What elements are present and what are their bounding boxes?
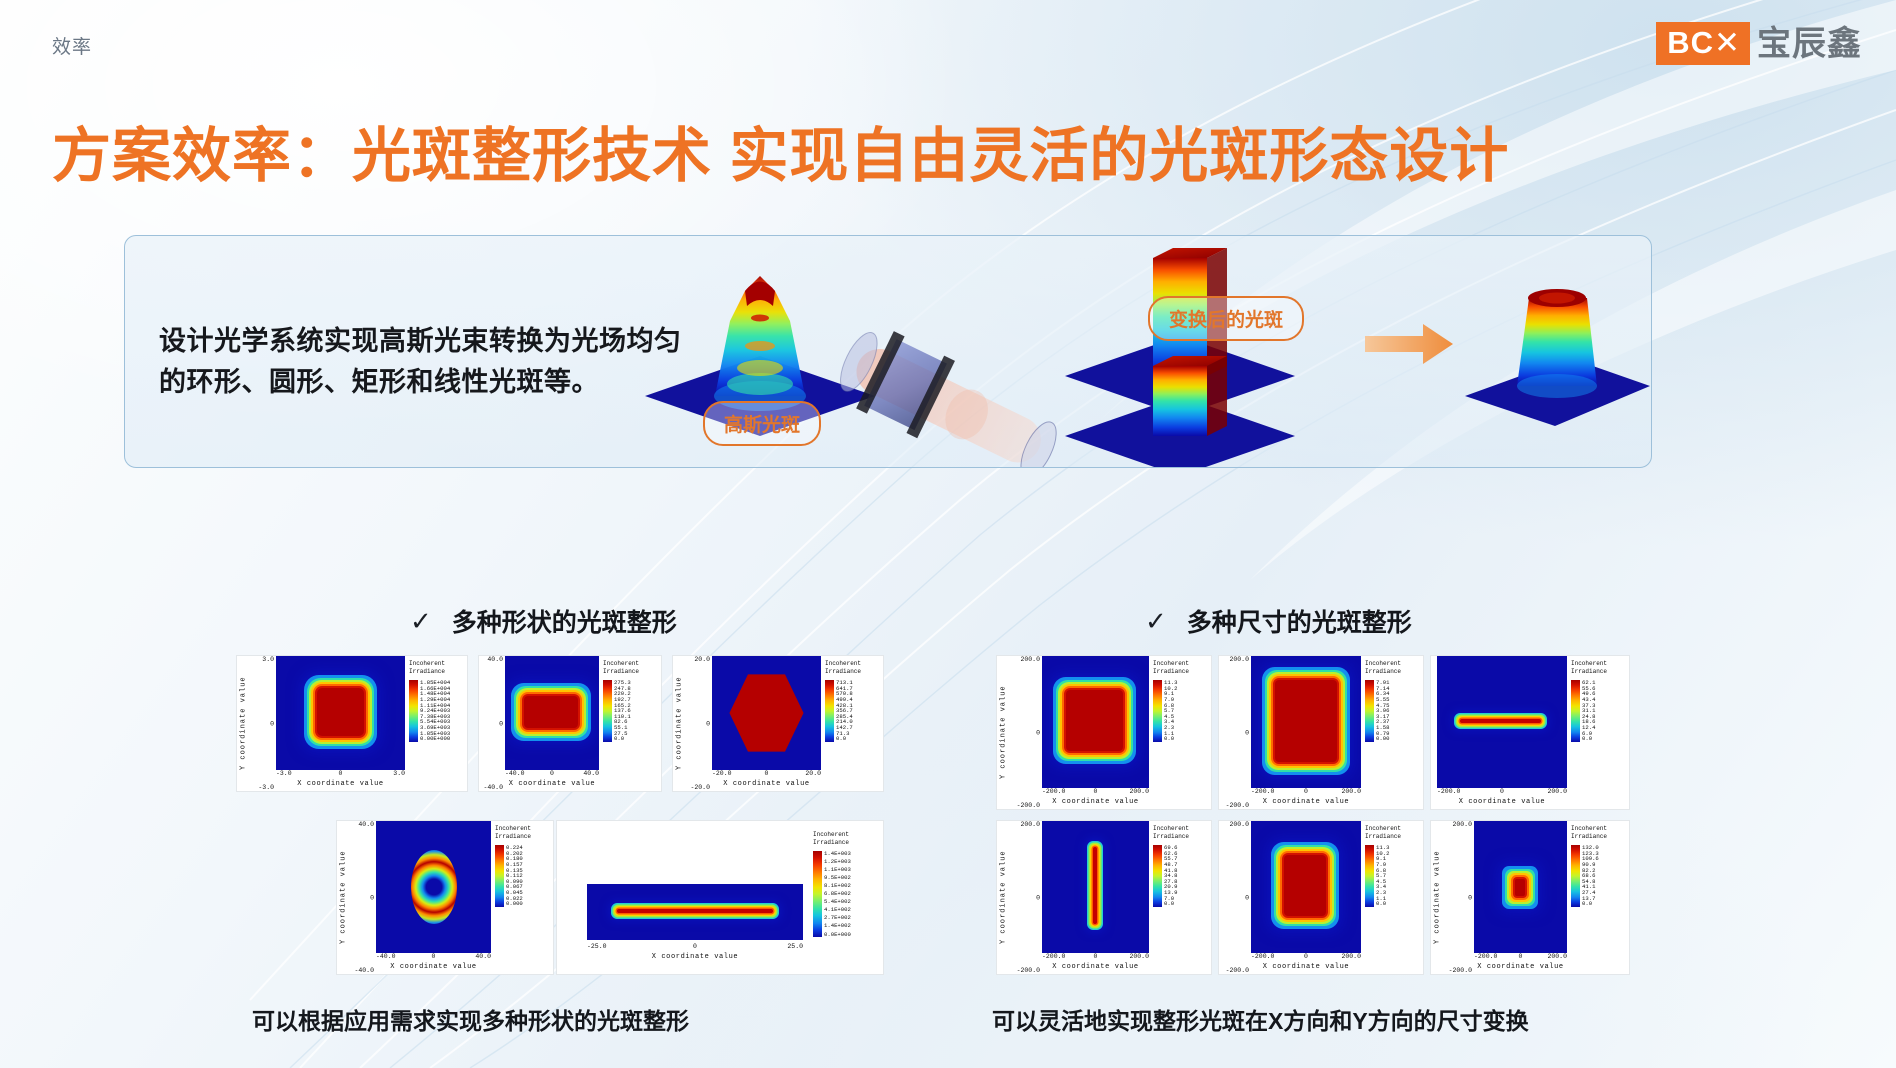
chart-card-shape-rectangle: 40.0 0 -40.0 -40.0 0 40.0 X coordinate v… bbox=[478, 655, 662, 792]
section-title-shapes: 多种形状的光斑整形 bbox=[452, 603, 677, 639]
x-axis-ticks: -200.0 0 200.0 bbox=[1251, 788, 1361, 798]
heat-shape-square-small bbox=[1515, 879, 1525, 896]
colorbar-title: Incoherent Irradiance bbox=[825, 660, 881, 676]
section-title-sizes: 多种尺寸的光斑整形 bbox=[1187, 603, 1412, 639]
heatmap-canvas bbox=[1474, 821, 1567, 953]
colorbar: Incoherent Irradiance 713.1641.7 570.849… bbox=[821, 656, 883, 791]
x-axis-ticks: -25.0 0 25.0 bbox=[587, 943, 803, 953]
colorbar-labels: 0.2240.202 0.1800.157 0.1350.112 0.0900.… bbox=[504, 845, 523, 907]
heat-shape-thin-line bbox=[617, 909, 773, 913]
colorbar-title: Incoherent Irradiance bbox=[409, 660, 465, 676]
colorbar: Incoherent Irradiance 69.662.6 55.748.7 … bbox=[1149, 821, 1211, 974]
tophat-surface-plot bbox=[1465, 289, 1650, 426]
x-axis-label: X coordinate value bbox=[712, 780, 821, 791]
x-axis-label: X coordinate value bbox=[1251, 798, 1361, 809]
colorbar-gradient bbox=[495, 845, 504, 907]
chart-card-size-hline: -200.0 0 200.0 X coordinate value Incohe… bbox=[1430, 655, 1630, 810]
colorbar-labels: 1.85E+0041.66E+004 1.48E+0041.29E+004 1.… bbox=[418, 680, 450, 742]
colorbar-title: Incoherent Irradiance bbox=[603, 660, 659, 676]
y-axis-ticks: 200.0 0 -200.0 bbox=[1219, 656, 1251, 809]
colorbar: Incoherent Irradiance 1.4E+0031.2E+003 1… bbox=[809, 827, 883, 974]
colorbar: Incoherent Irradiance 0.2240.202 0.1800.… bbox=[491, 821, 553, 974]
heatmap-canvas bbox=[1251, 656, 1361, 788]
colorbar-labels: 713.1641.7 570.8499.4 428.1356.7 285.421… bbox=[834, 680, 853, 742]
chart-card-size-square-mid: 200.0 0 -200.0 -200.0 0 200.0 X coordina… bbox=[1218, 820, 1424, 975]
heat-shape-vline bbox=[1093, 847, 1097, 924]
check-icon: ✓ bbox=[1145, 606, 1167, 637]
heat-shape-rect-wide bbox=[1066, 690, 1124, 751]
y-axis-ticks: 3.0 0 -3.0 bbox=[250, 656, 276, 791]
x-axis-ticks: -20.0 0 20.0 bbox=[712, 770, 821, 780]
y-axis-ticks: 40.0 0 -40.0 bbox=[479, 656, 505, 791]
x-axis-label: X coordinate value bbox=[376, 963, 491, 974]
page-kicker: 效率 bbox=[52, 32, 92, 59]
x-axis-ticks: -40.0 0 40.0 bbox=[376, 953, 491, 963]
colorbar-gradient bbox=[1153, 680, 1162, 742]
y-axis-ticks: 40.0 0 -40.0 bbox=[350, 821, 376, 974]
colorbar-labels: 11.310.2 9.17.9 6.85.7 4.53.4 2.31.1 0.0 bbox=[1374, 845, 1389, 907]
heat-shape-square-big bbox=[1275, 680, 1337, 762]
y-axis-ticks: 200.0 0 -200.0 bbox=[1010, 821, 1042, 974]
check-icon: ✓ bbox=[410, 606, 432, 637]
heat-shape-hline bbox=[1460, 719, 1541, 723]
colorbar-labels: 132.0123.3 109.690.9 82.268.6 54.841.1 2… bbox=[1580, 845, 1599, 907]
colorbar-title: Incoherent Irradiance bbox=[1153, 660, 1209, 676]
colorbar-gradient bbox=[409, 680, 418, 742]
colorbar-title: Incoherent Irradiance bbox=[1365, 660, 1421, 676]
y-axis-label: Y coordinate value bbox=[673, 656, 686, 791]
colorbar-title: Incoherent Irradiance bbox=[495, 825, 551, 841]
heatmap-canvas bbox=[276, 656, 405, 770]
heatmap-canvas bbox=[505, 656, 599, 770]
colorbar-title: Incoherent Irradiance bbox=[813, 831, 881, 847]
x-axis-ticks: -40.0 0 40.0 bbox=[505, 770, 599, 780]
chart-card-size-rect-wide: Y coordinate value 200.0 0 -200.0 -200.0… bbox=[996, 655, 1212, 810]
badge-gaussian-spot: 高斯光斑 bbox=[703, 401, 821, 446]
y-axis-ticks: 20.0 0 -20.0 bbox=[686, 656, 712, 791]
x-axis-label: X coordinate value bbox=[505, 780, 599, 791]
colorbar: Incoherent Irradiance 11.310.2 9.17.9 6.… bbox=[1149, 656, 1211, 809]
colorbar-gradient bbox=[1571, 845, 1580, 907]
colorbar-gradient bbox=[1365, 845, 1374, 907]
heatmap-canvas bbox=[712, 656, 821, 770]
optical-lens-assembly bbox=[828, 318, 1069, 468]
chart-card-shape-ring: Y coordinate value 40.0 0 -40.0 -40.0 0 … bbox=[336, 820, 554, 975]
chart-card-shape-thin-line: -25.0 0 25.0 X coordinate value Incohere… bbox=[556, 820, 884, 975]
colorbar-title: Incoherent Irradiance bbox=[1571, 660, 1627, 676]
y-axis-label: Y coordinate value bbox=[237, 656, 250, 791]
chart-card-size-square-small: Y coordinate value 200.0 0 -200.0 -200.0… bbox=[1430, 820, 1630, 975]
colorbar-gradient bbox=[1365, 680, 1374, 742]
badge-shaped-spot: 变换后的光斑 bbox=[1148, 296, 1304, 341]
hero-panel: 设计光学系统实现高斯光束转换为光场均匀的环形、圆形、矩形和线性光斑等。 bbox=[124, 235, 1652, 468]
colorbar-gradient bbox=[813, 851, 822, 937]
section-header-sizes: ✓ 多种尺寸的光斑整形 bbox=[1145, 603, 1412, 639]
colorbar: Incoherent Irradiance 132.0123.3 109.690… bbox=[1567, 821, 1629, 974]
colorbar-labels: 11.310.2 9.17.9 6.85.7 4.53.4 2.31.1 0.0 bbox=[1162, 680, 1177, 742]
heat-shape-hexagon bbox=[729, 672, 803, 754]
logo-mark-bcx: BC✕ bbox=[1656, 22, 1750, 65]
colorbar-gradient bbox=[825, 680, 834, 742]
colorbar: Incoherent Irradiance 7.917.14 6.345.55 … bbox=[1361, 656, 1423, 809]
y-axis-ticks: 200.0 0 -200.0 bbox=[1010, 656, 1042, 809]
colorbar-labels: 1.4E+0031.2E+003 1.1E+0039.5E+002 8.1E+0… bbox=[822, 851, 851, 937]
x-axis-label: X coordinate value bbox=[1474, 963, 1567, 974]
y-axis-ticks: 200.0 0 -200.0 bbox=[1444, 821, 1474, 974]
chart-card-size-vline: Y coordinate value 200.0 0 -200.0 -200.0… bbox=[996, 820, 1212, 975]
heatmap-canvas bbox=[1251, 821, 1361, 953]
y-axis-label: Y coordinate value bbox=[997, 656, 1010, 809]
colorbar-labels: 62.155.6 49.643.4 37.331.1 24.818.6 12.4… bbox=[1580, 680, 1595, 742]
x-axis-ticks: -200.0 0 200.0 bbox=[1042, 788, 1149, 798]
transform-arrow-icon bbox=[1365, 324, 1453, 364]
x-axis-label: X coordinate value bbox=[1042, 798, 1149, 809]
x-axis-label: X coordinate value bbox=[1042, 963, 1149, 974]
chart-card-shape-square: Y coordinate value 3.0 0 -3.0 -3.0 0 3.0… bbox=[236, 655, 468, 792]
colorbar: Incoherent Irradiance 62.155.6 49.643.4 … bbox=[1567, 656, 1629, 809]
heat-shape-square-mid bbox=[1284, 855, 1326, 916]
x-axis-label: X coordinate value bbox=[276, 780, 405, 791]
colorbar: Incoherent Irradiance 11.310.2 9.17.9 6.… bbox=[1361, 821, 1423, 974]
caption-sizes: 可以灵活地实现整形光斑在X方向和Y方向的尺寸变换 bbox=[992, 1002, 1529, 1036]
x-axis-ticks: -200.0 0 200.0 bbox=[1042, 953, 1149, 963]
heat-shape-square bbox=[317, 688, 363, 736]
section-header-shapes: ✓ 多种形状的光斑整形 bbox=[410, 603, 677, 639]
heatmap-canvas bbox=[1042, 821, 1149, 953]
y-axis-label: Y coordinate value bbox=[1431, 821, 1444, 974]
colorbar-labels: 275.3247.8 220.2192.7 165.2137.6 110.182… bbox=[612, 680, 631, 742]
caption-shapes: 可以根据应用需求实现多种形状的光斑整形 bbox=[252, 1002, 689, 1036]
colorbar: Incoherent Irradiance 275.3247.8 220.219… bbox=[599, 656, 661, 791]
heatmap-canvas bbox=[1042, 656, 1149, 788]
x-axis-label: X coordinate value bbox=[1437, 798, 1567, 809]
chart-card-shape-hexagon: Y coordinate value 20.0 0 -20.0 -20.0 0 … bbox=[672, 655, 884, 792]
colorbar-labels: 7.917.14 6.345.55 4.753.96 3.172.37 1.58… bbox=[1374, 680, 1389, 742]
colorbar-gradient bbox=[1153, 845, 1162, 907]
y-axis-label: Y coordinate value bbox=[337, 821, 350, 974]
heat-shape-ring bbox=[411, 850, 457, 924]
heat-shape-rectangle bbox=[524, 696, 579, 728]
colorbar-title: Incoherent Irradiance bbox=[1153, 825, 1209, 841]
x-axis-ticks: -200.0 0 200.0 bbox=[1474, 953, 1567, 963]
x-axis-ticks: -3.0 0 3.0 bbox=[276, 770, 405, 780]
y-axis-label: Y coordinate value bbox=[997, 821, 1010, 974]
company-logo: BC✕ 宝辰鑫 bbox=[1656, 22, 1862, 65]
chart-card-size-square-big: 200.0 0 -200.0 -200.0 0 200.0 X coordina… bbox=[1218, 655, 1424, 810]
colorbar-title: Incoherent Irradiance bbox=[1365, 825, 1421, 841]
heatmap-canvas bbox=[587, 884, 803, 940]
x-axis-ticks: -200.0 0 200.0 bbox=[1251, 953, 1361, 963]
x-axis-label: X coordinate value bbox=[587, 953, 803, 964]
colorbar-labels: 69.662.6 55.748.7 41.834.8 27.820.9 13.9… bbox=[1162, 845, 1177, 907]
heatmap-canvas bbox=[376, 821, 491, 953]
colorbar: Incoherent Irradiance 1.85E+0041.66E+004… bbox=[405, 656, 467, 791]
colorbar-title: Incoherent Irradiance bbox=[1571, 825, 1627, 841]
colorbar-gradient bbox=[603, 680, 612, 742]
logo-chinese-name: 宝辰鑫 bbox=[1757, 27, 1862, 61]
page-title: 方案效率：光斑整形技术 实现自由灵活的光斑形态设计 bbox=[52, 108, 1509, 193]
y-axis-ticks: 200.0 0 -200.0 bbox=[1219, 821, 1251, 974]
heatmap-canvas bbox=[1437, 656, 1567, 788]
colorbar-gradient bbox=[1571, 680, 1580, 742]
x-axis-ticks: -200.0 0 200.0 bbox=[1437, 788, 1567, 798]
x-axis-label: X coordinate value bbox=[1251, 963, 1361, 974]
